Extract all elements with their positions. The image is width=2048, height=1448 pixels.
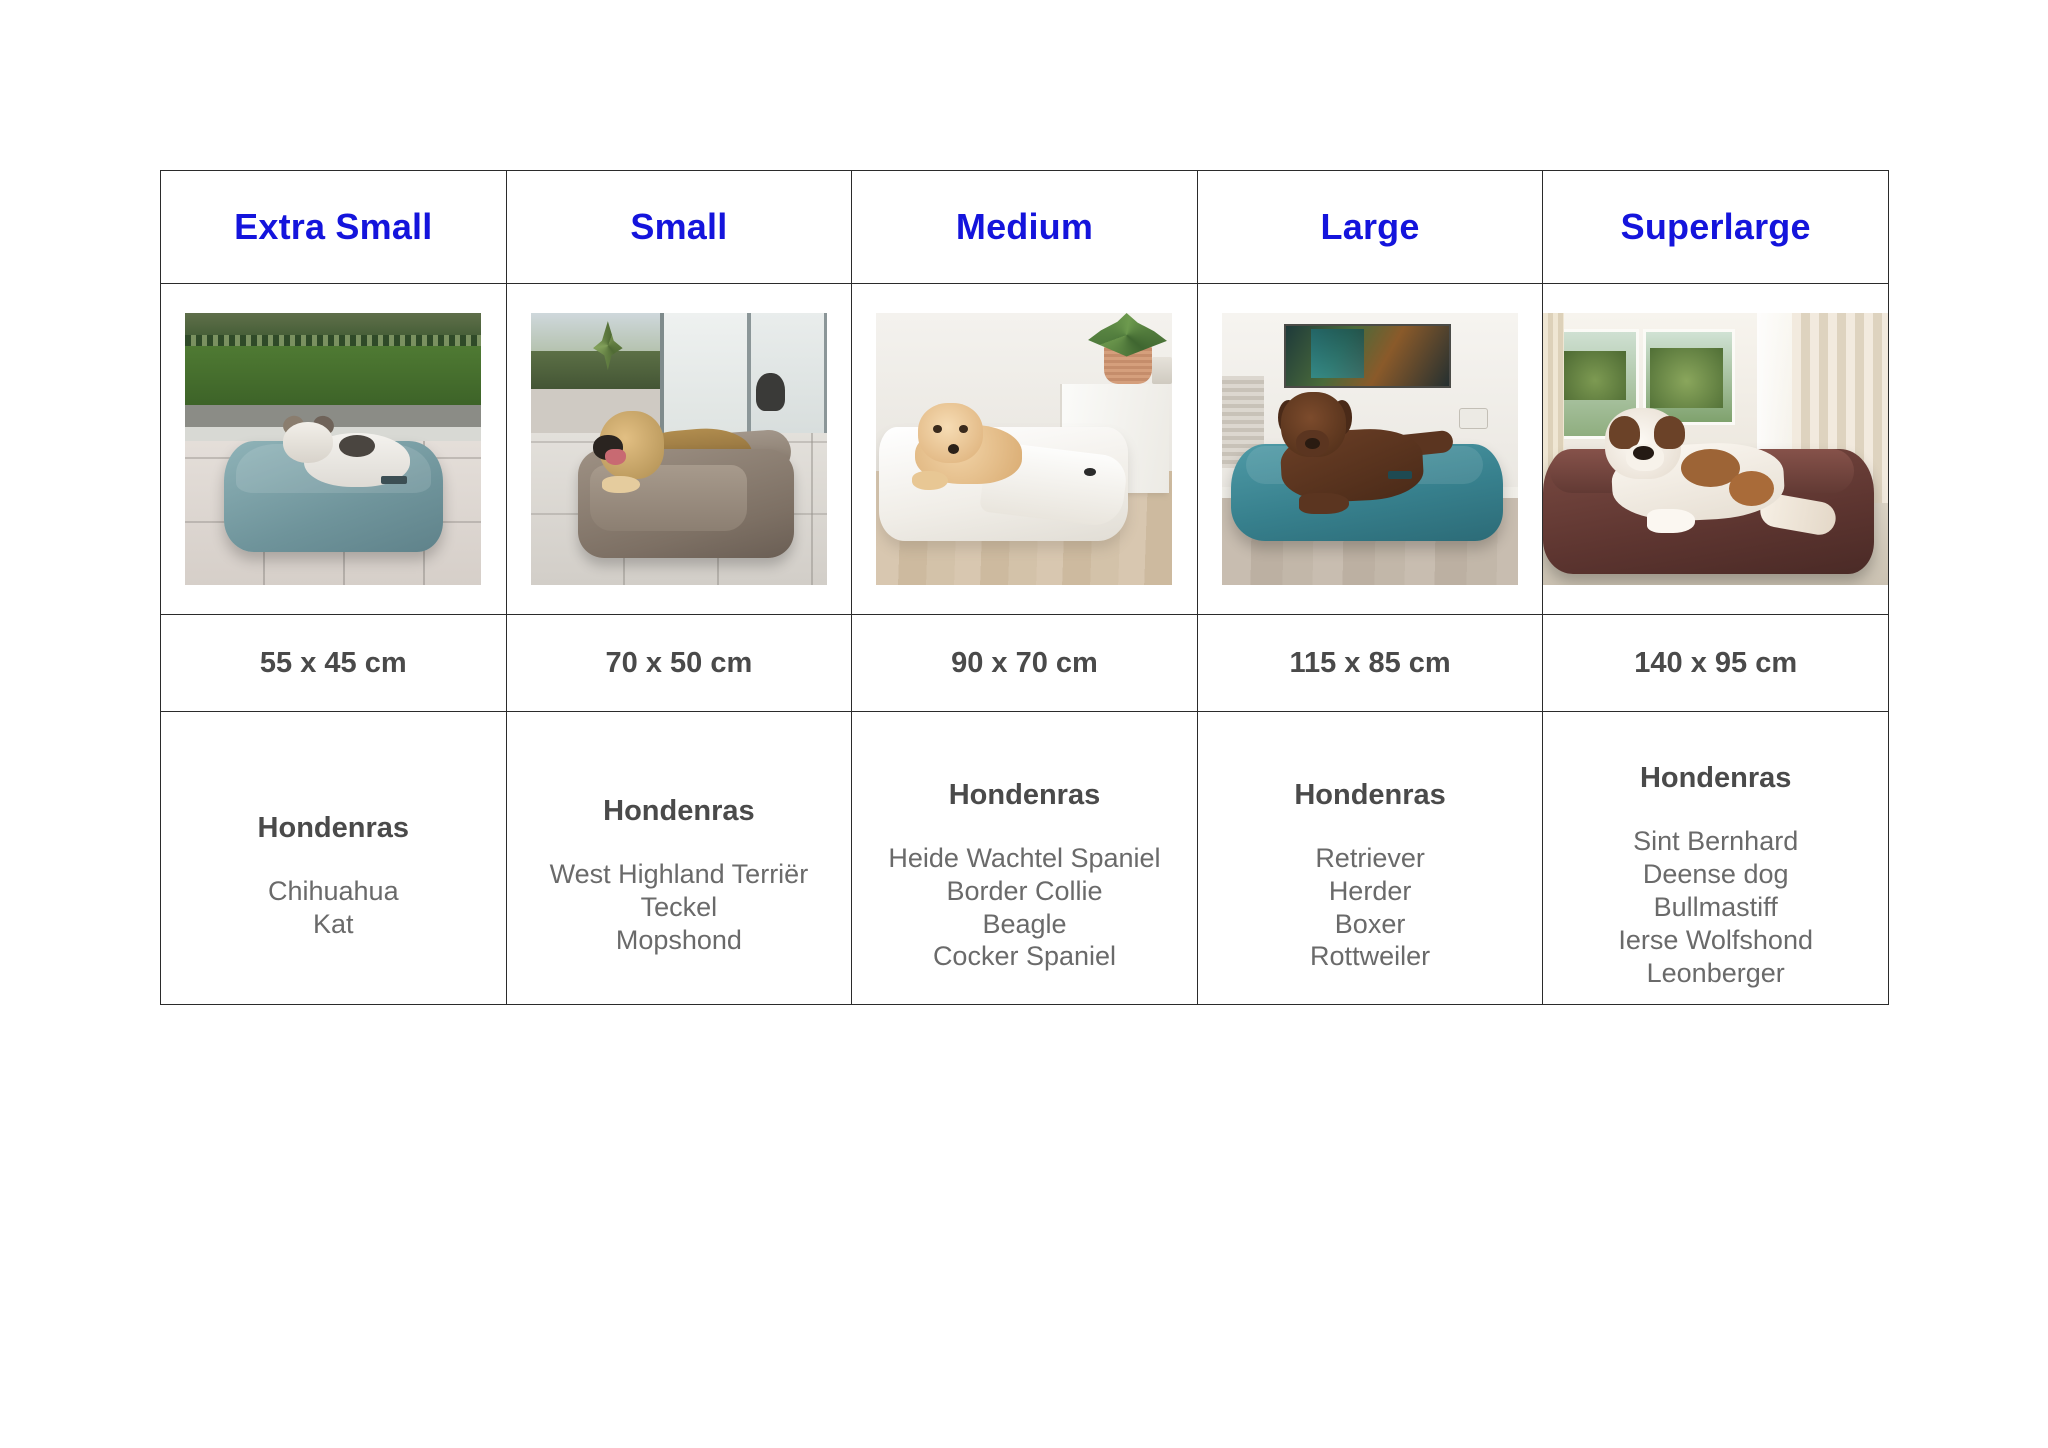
photo-wrapper — [852, 284, 1197, 614]
table-dimension-row: 55 x 45 cm 70 x 50 cm 90 x 70 cm 115 x 8… — [161, 615, 1889, 712]
product-photo-medium — [876, 313, 1172, 585]
category-title: Large — [1198, 209, 1543, 245]
photo-cell-small — [506, 284, 852, 615]
breed-block: Hondenras Retriever Herder Boxer Rottwei… — [1198, 743, 1543, 974]
header-cell-small: Small — [506, 171, 852, 284]
breed-list: Sint Bernhard Deense dog Bullmastiff Ier… — [1543, 825, 1888, 990]
table-breed-row: Hondenras Chihuahua Kat Hondenras West H… — [161, 712, 1889, 1005]
breed-item: Ierse Wolfshond — [1543, 924, 1888, 957]
breed-item: Rottweiler — [1198, 940, 1543, 973]
photo-wrapper — [161, 284, 506, 614]
breed-cell-large: Hondenras Retriever Herder Boxer Rottwei… — [1197, 712, 1543, 1005]
dimension-cell-medium: 90 x 70 cm — [852, 615, 1198, 712]
breed-cell-superlarge: Hondenras Sint Bernhard Deense dog Bullm… — [1543, 712, 1889, 1005]
product-photo-small — [531, 313, 827, 585]
dimension-cell-superlarge: 140 x 95 cm — [1543, 615, 1889, 712]
breed-item: Sint Bernhard — [1543, 825, 1888, 858]
breed-heading: Hondenras — [852, 781, 1197, 810]
breed-item: Boxer — [1198, 908, 1543, 941]
breed-item: Border Collie — [852, 875, 1197, 908]
breed-item: Chihuahua — [161, 875, 506, 908]
dimension-cell-extra-small: 55 x 45 cm — [161, 615, 507, 712]
breed-heading: Hondenras — [161, 814, 506, 843]
product-photo-large — [1222, 313, 1518, 585]
breed-block: Hondenras Chihuahua Kat — [161, 776, 506, 941]
dimension-text: 115 x 85 cm — [1198, 649, 1543, 678]
breed-item: Leonberger — [1543, 957, 1888, 990]
breed-heading: Hondenras — [1543, 764, 1888, 793]
breed-cell-medium: Hondenras Heide Wachtel Spaniel Border C… — [852, 712, 1198, 1005]
breed-item: West Highland Terriër — [507, 858, 852, 891]
breed-item: Bullmastiff — [1543, 891, 1888, 924]
breed-item: Mopshond — [507, 924, 852, 957]
breed-heading: Hondenras — [1198, 781, 1543, 810]
header-cell-extra-small: Extra Small — [161, 171, 507, 284]
breed-item: Herder — [1198, 875, 1543, 908]
category-title: Extra Small — [161, 209, 506, 245]
photo-cell-superlarge — [1543, 284, 1889, 615]
photo-cell-medium — [852, 284, 1198, 615]
page-canvas: Extra Small Small Medium Large Superlarg… — [0, 0, 2048, 1448]
dimension-cell-large: 115 x 85 cm — [1197, 615, 1543, 712]
breed-block: Hondenras Heide Wachtel Spaniel Border C… — [852, 743, 1197, 974]
breed-item: Deense dog — [1543, 858, 1888, 891]
header-cell-medium: Medium — [852, 171, 1198, 284]
breed-heading: Hondenras — [507, 797, 852, 826]
photo-wrapper — [1198, 284, 1543, 614]
category-title: Medium — [852, 209, 1197, 245]
photo-wrapper — [1543, 284, 1888, 614]
product-photo-extra-small — [185, 313, 481, 585]
dimension-text: 90 x 70 cm — [852, 649, 1197, 678]
dimension-text: 55 x 45 cm — [161, 649, 506, 678]
header-cell-large: Large — [1197, 171, 1543, 284]
dimension-cell-small: 70 x 50 cm — [506, 615, 852, 712]
breed-block: Hondenras Sint Bernhard Deense dog Bullm… — [1543, 726, 1888, 990]
dimension-text: 140 x 95 cm — [1543, 649, 1888, 678]
photo-cell-extra-small — [161, 284, 507, 615]
breed-item: Heide Wachtel Spaniel — [852, 842, 1197, 875]
breed-list: West Highland Terriër Teckel Mopshond — [507, 858, 852, 957]
breed-item: Cocker Spaniel — [852, 940, 1197, 973]
breed-item: Beagle — [852, 908, 1197, 941]
photo-wrapper — [507, 284, 852, 614]
breed-cell-extra-small: Hondenras Chihuahua Kat — [161, 712, 507, 1005]
breed-block: Hondenras West Highland Terriër Teckel M… — [507, 759, 852, 957]
product-photo-superlarge — [1543, 313, 1888, 585]
dimension-text: 70 x 50 cm — [507, 649, 852, 678]
breed-item: Teckel — [507, 891, 852, 924]
breed-list: Chihuahua Kat — [161, 875, 506, 941]
table-photo-row — [161, 284, 1889, 615]
table-header-row: Extra Small Small Medium Large Superlarg… — [161, 171, 1889, 284]
breed-item: Retriever — [1198, 842, 1543, 875]
breed-cell-small: Hondenras West Highland Terriër Teckel M… — [506, 712, 852, 1005]
breed-list: Retriever Herder Boxer Rottweiler — [1198, 842, 1543, 974]
breed-item: Kat — [161, 908, 506, 941]
breed-list: Heide Wachtel Spaniel Border Collie Beag… — [852, 842, 1197, 974]
photo-cell-large — [1197, 284, 1543, 615]
header-cell-superlarge: Superlarge — [1543, 171, 1889, 284]
category-title: Small — [507, 209, 852, 245]
dog-bed-size-table: Extra Small Small Medium Large Superlarg… — [160, 170, 1889, 1005]
category-title: Superlarge — [1543, 209, 1888, 245]
